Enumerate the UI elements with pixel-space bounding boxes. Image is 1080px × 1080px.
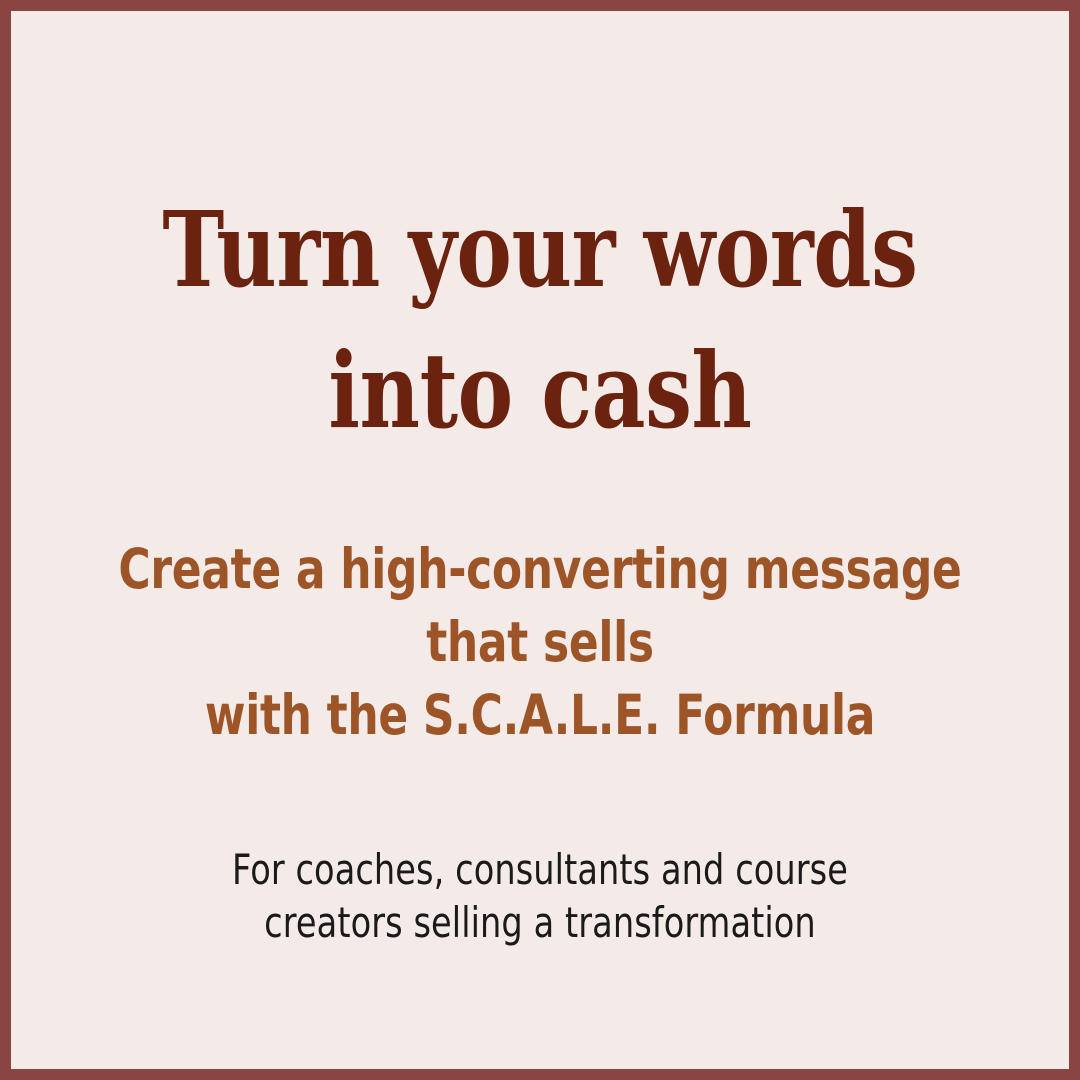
subheading-line-1: Create a high-converting message (117, 533, 963, 606)
subheading-line-2: that sells (117, 606, 963, 679)
body-copy-line-2: creators selling a transformation (117, 896, 963, 949)
headline: Turn your words into cash (117, 179, 963, 461)
body-copy-line-1: For coaches, consultants and course (117, 843, 963, 896)
subheading-line-3: with the S.C.A.L.E. Formula (117, 679, 963, 752)
body-copy: For coaches, consultants and course crea… (117, 843, 963, 949)
headline-line-1: Turn your words (117, 179, 963, 320)
subheading: Create a high-converting message that se… (117, 533, 963, 752)
headline-line-2: into cash (117, 320, 963, 461)
poster-canvas: Turn your words into cash Create a high-… (0, 0, 1080, 1080)
